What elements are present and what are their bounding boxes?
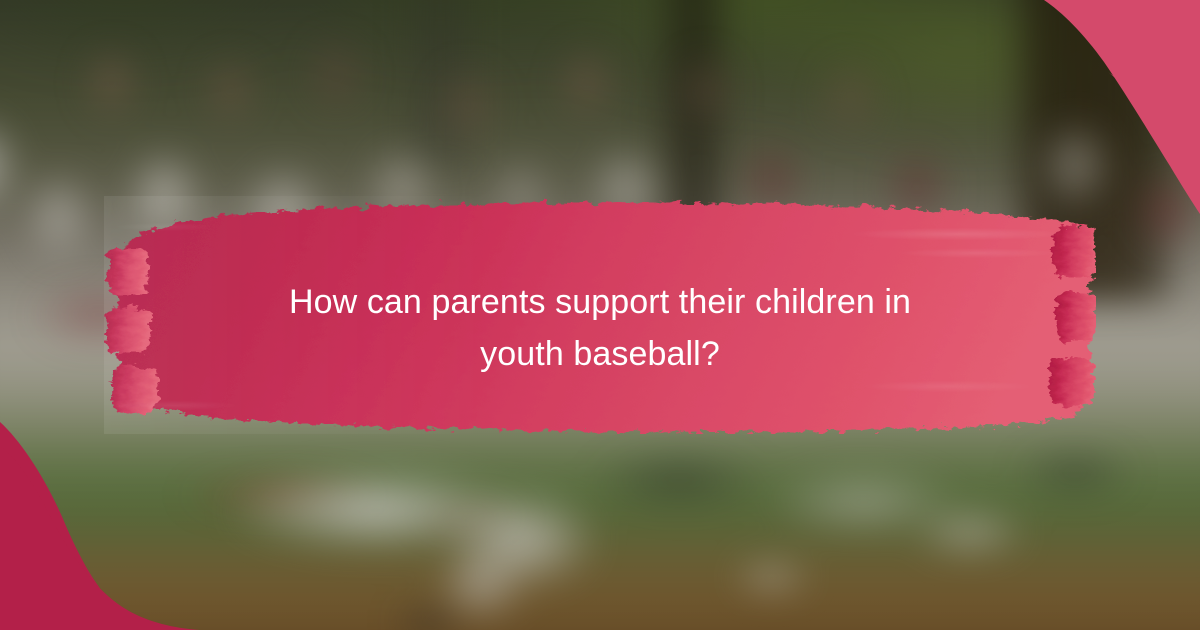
page-title: How can parents support their children i… (0, 276, 1200, 380)
social-share-card: How can parents support their children i… (0, 0, 1200, 630)
